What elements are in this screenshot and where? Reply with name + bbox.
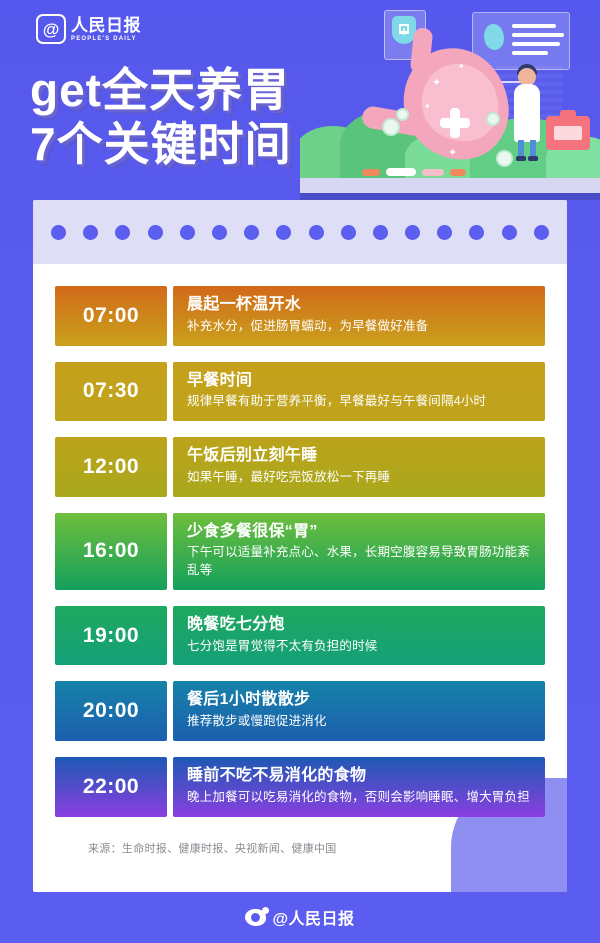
bubble-icon	[382, 118, 400, 136]
row-description: 规律早餐有助于营养平衡，早餐最好与午餐间隔4小时	[187, 393, 531, 411]
row-description: 晚上加餐可以吃易消化的食物，否则会影响睡眠、增大胃负担	[187, 789, 531, 807]
row-description: 如果午睡，最好吃完饭放松一下再睡	[187, 469, 531, 487]
time-label: 12:00	[55, 437, 167, 497]
row-content: 午饭后别立刻午睡如果午睡，最好吃完饭放松一下再睡	[173, 437, 545, 497]
doctor-shoe	[516, 156, 526, 161]
row-content: 餐后1小时散散步推荐散步或慢跑促进消化	[173, 681, 545, 741]
time-label: 16:00	[55, 513, 167, 590]
time-label: 20:00	[55, 681, 167, 741]
bubble-icon	[496, 150, 513, 167]
logo-text-block: 人民日报 PEOPLE'S DAILY	[71, 17, 141, 42]
time-label: 19:00	[55, 606, 167, 666]
timeline-row: 20:00餐后1小时散散步推荐散步或慢跑促进消化	[55, 681, 545, 741]
perforation-dot	[373, 225, 388, 240]
row-description: 七分饱是胃觉得不太有负担的时候	[187, 638, 531, 656]
perforation-dot	[148, 225, 163, 240]
poster-canvas: @ 人民日报 PEOPLE'S DAILY get全天养胃 7个关键时间 +	[0, 0, 600, 943]
perforation-dot	[534, 225, 549, 240]
row-title: 睡前不吃不易消化的食物	[187, 766, 531, 787]
row-title: 晚餐吃七分饱	[187, 615, 531, 636]
row-content: 早餐时间规律早餐有助于营养平衡，早餐最好与午餐间隔4小时	[173, 362, 545, 422]
perforation-dot	[502, 225, 517, 240]
panel-bar	[512, 42, 560, 46]
shield-cross-icon: +	[400, 25, 408, 38]
at-sign-icon: @	[36, 14, 66, 44]
time-label: 07:30	[55, 362, 167, 422]
medical-kit-handle	[560, 110, 576, 118]
panel-bar	[512, 33, 564, 37]
medical-cross-icon	[440, 108, 470, 138]
title-line-1: get全天养胃	[30, 66, 292, 116]
perforation-dot	[115, 225, 130, 240]
perforation-dot	[51, 225, 66, 240]
row-title: 少食多餐很保“胃”	[187, 522, 531, 543]
doctor-coat	[514, 84, 540, 142]
pill-icon	[450, 169, 466, 176]
timeline-row: 16:00少食多餐很保“胃”下午可以适量补充点心、水果，长期空腹容易导致胃肠功能…	[55, 513, 545, 590]
stomach-health-illustration: + ✦ ✦ ✦ ✦	[300, 0, 600, 200]
timeline-rows: 07:00晨起一杯温开水补充水分，促进肠胃蠕动，为早餐做好准备07:30早餐时间…	[33, 264, 567, 817]
time-label: 07:00	[55, 286, 167, 346]
timeline-row: 19:00晚餐吃七分饱七分饱是胃觉得不太有负担的时候	[55, 606, 545, 666]
row-title: 早餐时间	[187, 371, 531, 392]
timeline-card: 07:00晨起一杯温开水补充水分，促进肠胃蠕动，为早餐做好准备07:30早餐时间…	[33, 200, 567, 892]
perforation-dot	[469, 225, 484, 240]
row-content: 晨起一杯温开水补充水分，促进肠胃蠕动，为早餐做好准备	[173, 286, 545, 346]
row-content: 晚餐吃七分饱七分饱是胃觉得不太有负担的时候	[173, 606, 545, 666]
medical-kit-label	[554, 126, 582, 140]
sparkle-icon: ✦	[448, 146, 457, 159]
weibo-eye-icon	[245, 909, 266, 926]
timeline-row: 12:00午饭后别立刻午睡如果午睡，最好吃完饭放松一下再睡	[55, 437, 545, 497]
title-line-2: 7个关键时间	[30, 120, 292, 170]
row-description: 补充水分，促进肠胃蠕动，为早餐做好准备	[187, 318, 531, 336]
perforation-dot	[341, 225, 356, 240]
perforation-dot	[244, 225, 259, 240]
timeline-row: 07:00晨起一杯温开水补充水分，促进肠胃蠕动，为早餐做好准备	[55, 286, 545, 346]
row-title: 晨起一杯温开水	[187, 295, 531, 316]
pill-icon	[362, 169, 380, 176]
panel-bar	[512, 24, 556, 28]
logo-chinese-name: 人民日报	[71, 17, 141, 34]
bubble-icon	[396, 108, 409, 121]
poster-title: get全天养胃 7个关键时间	[30, 66, 292, 169]
logo-english-name: PEOPLE'S DAILY	[71, 36, 141, 42]
bubble-icon	[486, 112, 500, 126]
perforation-dot	[309, 225, 324, 240]
row-content: 少食多餐很保“胃”下午可以适量补充点心、水果，长期空腹容易导致胃肠功能紊乱等	[173, 513, 545, 590]
row-title: 餐后1小时散散步	[187, 690, 531, 711]
perforation-dot	[437, 225, 452, 240]
pill-icon	[422, 169, 444, 176]
stomach-thumbnail-icon	[484, 24, 504, 50]
sparkle-icon: ✦	[458, 62, 465, 71]
row-content: 睡前不吃不易消化的食物晚上加餐可以吃易消化的食物，否则会影响睡眠、增大胃负担	[173, 757, 545, 817]
source-note: 来源：生命时报、健康时报、央视新闻、健康中国	[88, 840, 337, 856]
perforation-strip	[33, 200, 567, 264]
perforation-dot	[83, 225, 98, 240]
weibo-watermark: @人民日报	[0, 905, 600, 929]
time-label: 22:00	[55, 757, 167, 817]
ground-base	[300, 193, 600, 200]
doctor-shoe	[528, 156, 538, 161]
timeline-row: 22:00睡前不吃不易消化的食物晚上加餐可以吃易消化的食物，否则会影响睡眠、增大…	[55, 757, 545, 817]
people-daily-logo: @ 人民日报 PEOPLE'S DAILY	[36, 14, 141, 44]
perforation-dot	[180, 225, 195, 240]
perforation-dot	[212, 225, 227, 240]
timeline-row: 07:30早餐时间规律早餐有助于营养平衡，早餐最好与午餐间隔4小时	[55, 362, 545, 422]
pill-icon	[386, 168, 416, 176]
row-title: 午饭后别立刻午睡	[187, 446, 531, 467]
sparkle-icon: ✦	[424, 102, 431, 111]
perforation-dot	[276, 225, 291, 240]
sparkle-icon: ✦	[432, 76, 441, 89]
row-description: 下午可以适量补充点心、水果，长期空腹容易导致胃肠功能紊乱等	[187, 544, 531, 580]
weibo-handle: @人民日报	[272, 905, 354, 929]
row-description: 推荐散步或慢跑促进消化	[187, 713, 531, 731]
panel-bar	[512, 51, 548, 55]
perforation-dot	[405, 225, 420, 240]
